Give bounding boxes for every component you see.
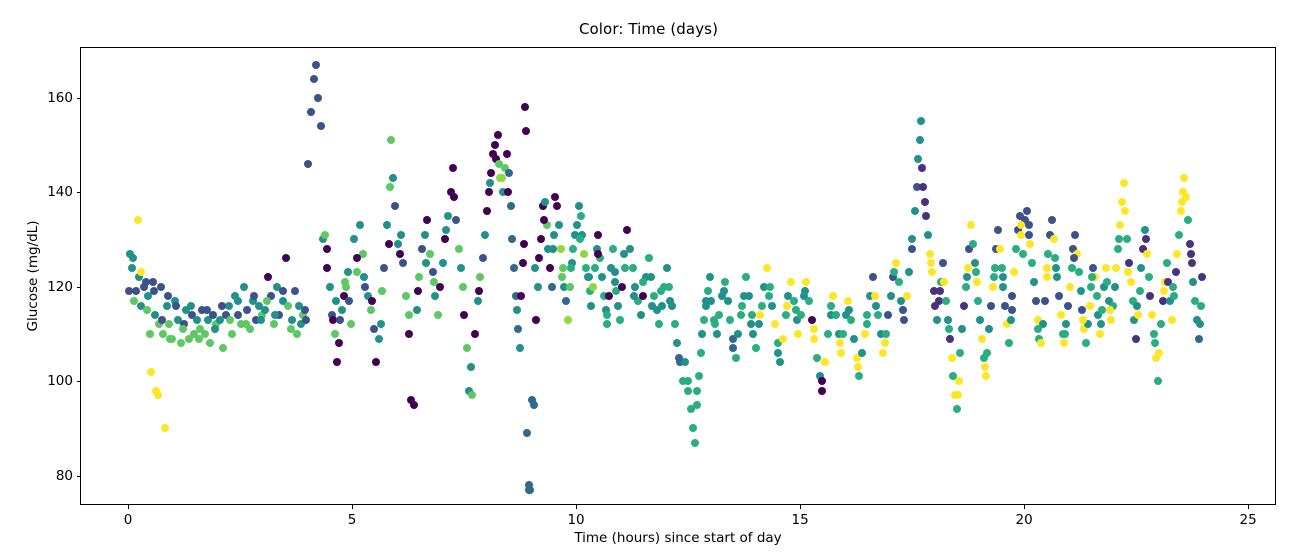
scatter-point bbox=[956, 349, 964, 357]
x-axis-tick-mark bbox=[576, 504, 577, 509]
scatter-point bbox=[1078, 306, 1086, 314]
scatter-point bbox=[1157, 320, 1165, 328]
scatter-point bbox=[288, 316, 296, 324]
scatter-point bbox=[323, 264, 331, 272]
scatter-point bbox=[1008, 306, 1016, 314]
scatter-point bbox=[444, 212, 452, 220]
scatter-point bbox=[989, 283, 997, 291]
scatter-point bbox=[1087, 283, 1095, 291]
scatter-point bbox=[1008, 292, 1016, 300]
scatter-point bbox=[749, 330, 757, 338]
scatter-point bbox=[442, 226, 450, 234]
scatter-point bbox=[226, 316, 234, 324]
scatter-point bbox=[405, 330, 413, 338]
scatter-point bbox=[771, 320, 779, 328]
scatter-point bbox=[312, 61, 320, 69]
scatter-point bbox=[1096, 330, 1104, 338]
scatter-point bbox=[1188, 259, 1196, 267]
scatter-point bbox=[1124, 268, 1132, 276]
scatter-point bbox=[704, 287, 712, 295]
scatter-point bbox=[513, 306, 521, 314]
scatter-point bbox=[1141, 226, 1149, 234]
scatter-point bbox=[211, 325, 219, 333]
scatter-point bbox=[987, 302, 995, 310]
scatter-point bbox=[671, 320, 679, 328]
scatter-point bbox=[1043, 264, 1051, 272]
scatter-point bbox=[752, 344, 760, 352]
scatter-point bbox=[697, 349, 705, 357]
scatter-point bbox=[1102, 264, 1110, 272]
scatter-point bbox=[918, 164, 926, 172]
y-axis-label: Glucose (mg/dL) bbox=[22, 47, 44, 505]
scatter-point bbox=[134, 216, 142, 224]
scatter-point bbox=[639, 278, 647, 286]
scatter-point bbox=[580, 250, 588, 258]
scatter-point bbox=[774, 349, 782, 357]
scatter-point bbox=[933, 316, 941, 324]
scatter-point bbox=[429, 268, 437, 276]
scatter-point bbox=[994, 226, 1002, 234]
scatter-point bbox=[768, 302, 776, 310]
scatter-point bbox=[577, 212, 585, 220]
scatter-point bbox=[869, 273, 877, 281]
scatter-point bbox=[766, 283, 774, 291]
scatter-point bbox=[455, 245, 463, 253]
scatter-point bbox=[321, 231, 329, 239]
scatter-point bbox=[307, 108, 315, 116]
scatter-point bbox=[745, 292, 753, 300]
scatter-point bbox=[1075, 268, 1083, 276]
scatter-point bbox=[917, 117, 925, 125]
scatter-point bbox=[936, 287, 944, 295]
scatter-point bbox=[810, 335, 818, 343]
scatter-point bbox=[530, 401, 538, 409]
scatter-point bbox=[179, 325, 187, 333]
scatter-point bbox=[514, 325, 522, 333]
scatter-point bbox=[631, 283, 639, 291]
scatter-point bbox=[129, 254, 137, 262]
scatter-point bbox=[441, 235, 449, 243]
scatter-point bbox=[291, 287, 299, 295]
scatter-point bbox=[1173, 250, 1181, 258]
scatter-point bbox=[317, 122, 325, 130]
page-title: Color: Time (days) bbox=[0, 20, 1297, 38]
y-axis-tick-mark bbox=[77, 98, 82, 99]
y-axis-tick-mark bbox=[77, 476, 82, 477]
scatter-point bbox=[368, 297, 376, 305]
scatter-point bbox=[1017, 231, 1025, 239]
scatter-point bbox=[467, 363, 475, 371]
scatter-point bbox=[637, 311, 645, 319]
scatter-point bbox=[168, 335, 176, 343]
scatter-point bbox=[567, 264, 575, 272]
scatter-point bbox=[1051, 254, 1059, 262]
scatter-point bbox=[487, 169, 495, 177]
scatter-point bbox=[154, 391, 162, 399]
scatter-point bbox=[964, 264, 972, 272]
scatter-point bbox=[350, 235, 358, 243]
scatter-point bbox=[486, 179, 494, 187]
scatter-point bbox=[386, 183, 394, 191]
x-axis-tick-label: 5 bbox=[348, 512, 357, 528]
scatter-point bbox=[257, 316, 265, 324]
scatter-point bbox=[999, 283, 1007, 291]
scatter-point bbox=[1050, 235, 1058, 243]
x-axis-tick-mark bbox=[128, 504, 129, 509]
scatter-point bbox=[193, 316, 201, 324]
scatter-point bbox=[1186, 240, 1194, 248]
scatter-point bbox=[946, 335, 954, 343]
scatter-point bbox=[519, 259, 527, 267]
scatter-point bbox=[575, 202, 583, 210]
scatter-point bbox=[1133, 302, 1141, 310]
scatter-point bbox=[1089, 264, 1097, 272]
scatter-point bbox=[887, 292, 895, 300]
scatter-point bbox=[459, 283, 467, 291]
scatter-point bbox=[1114, 245, 1122, 253]
scatter-point bbox=[551, 193, 559, 201]
scatter-point bbox=[655, 320, 663, 328]
scatter-point bbox=[983, 349, 991, 357]
x-axis-tick-mark bbox=[1024, 504, 1025, 509]
scatter-point bbox=[693, 387, 701, 395]
scatter-point bbox=[460, 311, 468, 319]
scatter-point bbox=[742, 273, 750, 281]
scatter-point bbox=[829, 292, 837, 300]
y-axis-tick-mark bbox=[77, 381, 82, 382]
scatter-point bbox=[1163, 259, 1171, 267]
scatter-point bbox=[999, 273, 1007, 281]
scatter-point bbox=[927, 259, 935, 267]
scatter-point bbox=[1060, 339, 1068, 347]
scatter-point bbox=[345, 297, 353, 305]
scatter-point bbox=[548, 283, 556, 291]
scatter-point bbox=[942, 297, 950, 305]
scatter-point bbox=[564, 316, 572, 324]
scatter-point bbox=[928, 268, 936, 276]
scatter-point bbox=[967, 221, 975, 229]
scatter-point bbox=[648, 302, 656, 310]
scatter-point bbox=[675, 354, 683, 362]
scatter-plot-figure: Color: Time (days) 801001201401600510152… bbox=[0, 0, 1297, 556]
scatter-point bbox=[874, 311, 882, 319]
scatter-point bbox=[618, 283, 626, 291]
scatter-point bbox=[585, 273, 593, 281]
scatter-points-layer bbox=[81, 48, 1275, 504]
scatter-point bbox=[573, 221, 581, 229]
y-axis-tick-label: 100 bbox=[47, 373, 73, 389]
scatter-point bbox=[1142, 235, 1150, 243]
scatter-point bbox=[879, 349, 887, 357]
scatter-point bbox=[958, 325, 966, 333]
scatter-point bbox=[479, 254, 487, 262]
scatter-point bbox=[1057, 311, 1065, 319]
scatter-point bbox=[919, 183, 927, 191]
scatter-point bbox=[839, 330, 847, 338]
scatter-point bbox=[726, 316, 734, 324]
y-axis-tick-label: 160 bbox=[47, 90, 73, 106]
scatter-point bbox=[582, 264, 590, 272]
scatter-point bbox=[1061, 330, 1069, 338]
plot-axes-area: 801001201401600510152025 bbox=[80, 47, 1276, 505]
scatter-point bbox=[1160, 287, 1168, 295]
scatter-point bbox=[666, 297, 674, 305]
scatter-point bbox=[508, 235, 516, 243]
scatter-point bbox=[344, 268, 352, 276]
scatter-point bbox=[128, 264, 136, 272]
scatter-point bbox=[1025, 231, 1033, 239]
scatter-point bbox=[149, 278, 157, 286]
scatter-point bbox=[1118, 198, 1126, 206]
y-axis-tick-mark bbox=[77, 192, 82, 193]
scatter-point bbox=[808, 316, 816, 324]
scatter-point bbox=[1184, 216, 1192, 224]
scatter-point bbox=[293, 330, 301, 338]
scatter-point bbox=[243, 306, 251, 314]
scatter-point bbox=[1055, 292, 1063, 300]
scatter-point bbox=[1123, 235, 1131, 243]
scatter-point bbox=[1007, 316, 1015, 324]
scatter-point bbox=[457, 264, 465, 272]
scatter-point bbox=[614, 302, 622, 310]
scatter-point bbox=[338, 306, 346, 314]
scatter-point bbox=[905, 268, 913, 276]
scatter-point bbox=[335, 339, 343, 347]
scatter-point bbox=[439, 259, 447, 267]
scatter-point bbox=[405, 311, 413, 319]
scatter-point bbox=[1145, 273, 1153, 281]
scatter-point bbox=[940, 278, 948, 286]
scatter-point bbox=[526, 486, 534, 494]
scatter-point bbox=[494, 131, 502, 139]
scatter-point bbox=[532, 316, 540, 324]
scatter-point bbox=[495, 160, 503, 168]
scatter-point bbox=[1030, 278, 1038, 286]
scatter-point bbox=[903, 292, 911, 300]
scatter-point bbox=[863, 311, 871, 319]
scatter-point bbox=[378, 287, 386, 295]
scatter-point bbox=[498, 174, 506, 182]
scatter-point bbox=[250, 292, 258, 300]
scatter-point bbox=[558, 273, 566, 281]
scatter-point bbox=[1170, 292, 1178, 300]
scatter-point bbox=[963, 273, 971, 281]
scatter-point bbox=[370, 325, 378, 333]
scatter-point bbox=[1189, 278, 1197, 286]
scatter-point bbox=[818, 377, 826, 385]
scatter-point bbox=[415, 273, 423, 281]
scatter-point bbox=[474, 297, 482, 305]
scatter-point bbox=[187, 302, 195, 310]
scatter-point bbox=[534, 283, 542, 291]
scatter-point bbox=[137, 268, 145, 276]
scatter-point bbox=[234, 297, 242, 305]
scatter-point bbox=[485, 188, 493, 196]
scatter-point bbox=[974, 297, 982, 305]
scatter-point bbox=[546, 264, 554, 272]
scatter-point bbox=[261, 306, 269, 314]
scatter-point bbox=[734, 330, 742, 338]
scatter-point bbox=[1116, 221, 1124, 229]
scatter-point bbox=[1082, 339, 1090, 347]
scatter-point bbox=[657, 287, 665, 295]
scatter-point bbox=[850, 335, 858, 343]
scatter-point bbox=[410, 401, 418, 409]
scatter-point bbox=[914, 155, 922, 163]
scatter-point bbox=[271, 311, 279, 319]
scatter-point bbox=[1106, 306, 1114, 314]
scatter-point bbox=[854, 363, 862, 371]
x-axis-tick-mark bbox=[800, 504, 801, 509]
scatter-point bbox=[361, 283, 369, 291]
scatter-point bbox=[954, 391, 962, 399]
scatter-point bbox=[1023, 207, 1031, 215]
scatter-point bbox=[314, 94, 322, 102]
scatter-point bbox=[787, 278, 795, 286]
scatter-point bbox=[146, 330, 154, 338]
scatter-point bbox=[629, 264, 637, 272]
x-axis-label: Time (hours) since start of day bbox=[80, 530, 1276, 546]
scatter-point bbox=[336, 316, 344, 324]
scatter-point bbox=[837, 349, 845, 357]
scatter-point bbox=[621, 264, 629, 272]
scatter-point bbox=[1132, 335, 1140, 343]
scatter-point bbox=[790, 297, 798, 305]
scatter-point bbox=[813, 354, 821, 362]
scatter-point bbox=[481, 231, 489, 239]
scatter-point bbox=[377, 320, 385, 328]
scatter-point bbox=[776, 358, 784, 366]
scatter-point bbox=[713, 330, 721, 338]
scatter-point bbox=[972, 268, 980, 276]
scatter-point bbox=[926, 250, 934, 258]
scatter-point bbox=[225, 302, 233, 310]
scatter-point bbox=[475, 287, 483, 295]
scatter-point bbox=[1195, 335, 1203, 343]
scatter-point bbox=[569, 245, 577, 253]
scatter-point bbox=[783, 302, 791, 310]
scatter-point bbox=[172, 302, 180, 310]
scatter-point bbox=[810, 325, 818, 333]
scatter-point bbox=[832, 311, 840, 319]
scatter-point bbox=[890, 268, 898, 276]
scatter-point bbox=[747, 320, 755, 328]
scatter-point bbox=[1111, 283, 1119, 291]
scatter-point bbox=[1154, 377, 1162, 385]
scatter-point bbox=[603, 320, 611, 328]
scatter-point bbox=[562, 297, 570, 305]
scatter-point bbox=[1026, 240, 1034, 248]
scatter-point bbox=[711, 320, 719, 328]
scatter-point bbox=[782, 311, 790, 319]
x-axis-tick-label: 25 bbox=[1240, 512, 1257, 528]
scatter-point bbox=[387, 136, 395, 144]
scatter-point bbox=[521, 103, 529, 111]
scatter-point bbox=[732, 354, 740, 362]
scatter-point bbox=[609, 245, 617, 253]
scatter-point bbox=[855, 372, 863, 380]
scatter-point bbox=[483, 207, 491, 215]
scatter-point bbox=[270, 320, 278, 328]
scatter-point bbox=[737, 311, 745, 319]
scatter-point bbox=[976, 316, 984, 324]
scatter-point bbox=[695, 372, 703, 380]
scatter-point bbox=[380, 264, 388, 272]
scatter-point bbox=[1136, 287, 1144, 295]
scatter-point bbox=[948, 354, 956, 362]
scatter-point bbox=[1086, 302, 1094, 310]
scatter-point bbox=[414, 287, 422, 295]
scatter-point bbox=[589, 283, 597, 291]
scatter-point bbox=[557, 245, 565, 253]
scatter-point bbox=[794, 330, 802, 338]
scatter-point bbox=[310, 75, 318, 83]
scatter-point bbox=[792, 306, 800, 314]
scatter-point bbox=[847, 316, 855, 324]
scatter-point bbox=[383, 221, 391, 229]
scatter-point bbox=[971, 259, 979, 267]
scatter-point bbox=[872, 302, 880, 310]
scatter-point bbox=[673, 339, 681, 347]
scatter-point bbox=[234, 311, 242, 319]
scatter-point bbox=[960, 302, 968, 310]
scatter-point bbox=[240, 283, 248, 291]
scatter-point bbox=[399, 259, 407, 267]
scatter-point bbox=[450, 193, 458, 201]
scatter-point bbox=[1098, 306, 1106, 314]
scatter-point bbox=[623, 226, 631, 234]
scatter-point bbox=[845, 306, 853, 314]
scatter-point bbox=[413, 306, 421, 314]
scatter-point bbox=[748, 311, 756, 319]
scatter-point bbox=[844, 297, 852, 305]
scatter-point bbox=[165, 320, 173, 328]
scatter-point bbox=[706, 273, 714, 281]
x-axis-tick-label: 10 bbox=[567, 512, 584, 528]
scatter-point bbox=[1077, 287, 1085, 295]
scatter-point bbox=[517, 292, 525, 300]
scatter-point bbox=[756, 311, 764, 319]
scatter-point bbox=[594, 250, 602, 258]
scatter-point bbox=[598, 273, 606, 281]
scatter-point bbox=[1079, 316, 1087, 324]
scatter-point bbox=[1062, 320, 1070, 328]
scatter-point bbox=[161, 424, 169, 432]
scatter-point bbox=[639, 292, 647, 300]
scatter-point bbox=[738, 302, 746, 310]
scatter-point bbox=[647, 273, 655, 281]
scatter-point bbox=[626, 245, 634, 253]
scatter-point bbox=[1034, 325, 1042, 333]
scatter-point bbox=[720, 287, 728, 295]
scatter-point bbox=[944, 316, 952, 324]
scatter-point bbox=[755, 320, 763, 328]
scatter-point bbox=[385, 240, 393, 248]
scatter-point bbox=[504, 188, 512, 196]
scatter-point bbox=[218, 302, 226, 310]
scatter-point bbox=[279, 287, 287, 295]
scatter-point bbox=[282, 254, 290, 262]
scatter-point bbox=[1066, 283, 1074, 291]
scatter-point bbox=[1043, 273, 1051, 281]
scatter-point bbox=[908, 235, 916, 243]
scatter-point bbox=[1071, 231, 1079, 239]
scatter-point bbox=[1028, 259, 1036, 267]
scatter-point bbox=[1112, 264, 1120, 272]
scatter-point bbox=[422, 259, 430, 267]
scatter-point bbox=[1151, 339, 1159, 347]
scatter-point bbox=[1146, 292, 1154, 300]
